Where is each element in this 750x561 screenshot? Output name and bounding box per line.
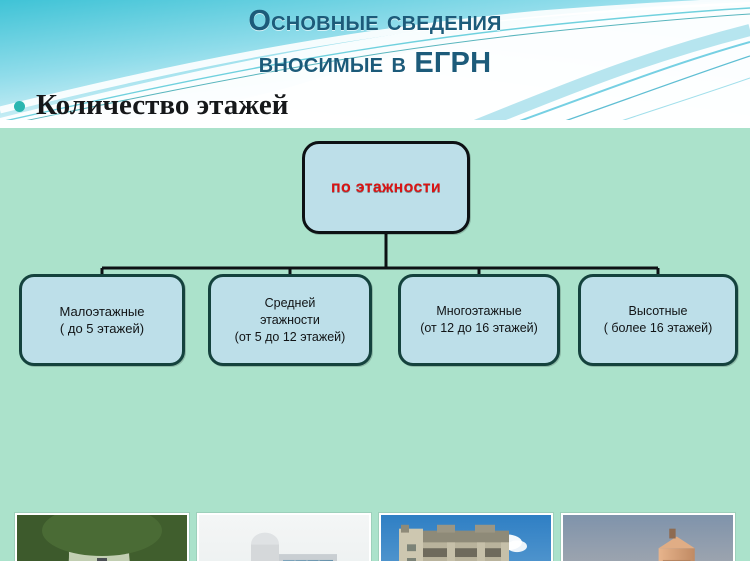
diagram-node-medium-rise-label: Средней этажности (от 5 до 12 этажей) bbox=[233, 295, 348, 346]
slide: Основные сведения вносимые в ЕГРН Количе… bbox=[0, 0, 750, 561]
photo-medium-rise bbox=[197, 513, 371, 561]
diagram-node-root-label: по этажности bbox=[331, 179, 441, 197]
diagram-node-root[interactable]: по этажности bbox=[302, 141, 470, 234]
bullet-item: Количество этажей bbox=[14, 88, 288, 122]
building-photo-strip bbox=[0, 513, 750, 561]
bullet-item-label: Количество этажей bbox=[36, 88, 288, 122]
slide-header: Основные сведения вносимые в ЕГРН Количе… bbox=[0, 0, 750, 128]
diagram-node-low-rise-label: Малоэтажные ( до 5 этажей) bbox=[57, 303, 146, 337]
bullet-dot-icon bbox=[14, 101, 25, 112]
diagram-node-multi-storey[interactable]: Многоэтажные (от 12 до 16 этажей) bbox=[398, 274, 560, 366]
photo-multi-storey bbox=[379, 513, 553, 561]
diagram-node-multi-storey-label: Многоэтажные (от 12 до 16 этажей) bbox=[418, 303, 540, 337]
photo-high-rise bbox=[561, 513, 735, 561]
diagram-node-low-rise[interactable]: Малоэтажные ( до 5 этажей) bbox=[19, 274, 185, 366]
diagram-node-high-rise-label: Высотные ( более 16 этажей) bbox=[602, 303, 715, 337]
diagram-node-medium-rise[interactable]: Средней этажности (от 5 до 12 этажей) bbox=[208, 274, 372, 366]
content-panel: по этажности Малоэтажные ( до 5 этажей) … bbox=[0, 128, 750, 561]
floor-count-classification-diagram: по этажности Малоэтажные ( до 5 этажей) … bbox=[0, 128, 750, 388]
diagram-node-high-rise[interactable]: Высотные ( более 16 этажей) bbox=[578, 274, 738, 366]
photo-low-rise bbox=[15, 513, 189, 561]
